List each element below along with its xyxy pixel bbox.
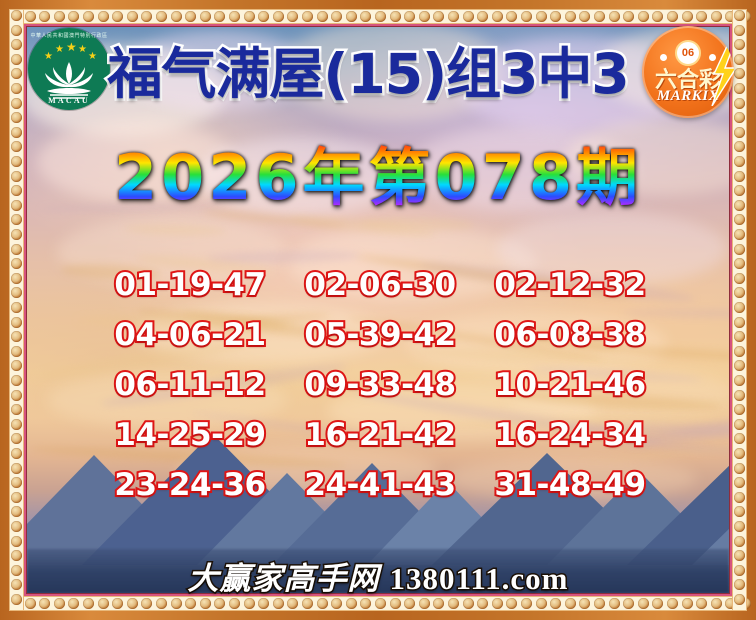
issue-number-text: 2026年第078期 — [114, 141, 642, 214]
frame-bead — [734, 10, 745, 21]
frame-bead — [127, 11, 138, 22]
footer: 大赢家高手网1380111.com — [0, 553, 756, 598]
frame-bead — [11, 287, 22, 298]
frame-bead — [419, 598, 430, 609]
frame-bead — [11, 448, 22, 459]
frame-bead — [734, 25, 745, 36]
frame-bead — [734, 244, 745, 255]
frame-bead — [404, 598, 415, 609]
frame-bead — [609, 11, 620, 22]
frame-bead — [734, 375, 745, 386]
frame-bead — [302, 598, 313, 609]
frame-bead — [375, 11, 386, 22]
frame-bead-band-top — [9, 9, 747, 24]
frame-bead — [536, 11, 547, 22]
frame-bead — [734, 390, 745, 401]
macau-emblem-chinese-text: 中華人民共和國澳門特別行政區 — [28, 32, 110, 39]
frame-bead — [734, 331, 745, 342]
frame-bead — [346, 11, 357, 22]
frame-bead — [11, 390, 22, 401]
frame-bead — [156, 11, 167, 22]
frame-bead — [667, 598, 678, 609]
frame-bead — [11, 273, 22, 284]
frame-bead — [734, 419, 745, 430]
frame-bead — [273, 598, 284, 609]
frame-bead — [11, 477, 22, 488]
frame-bead — [360, 598, 371, 609]
frame-bead — [734, 214, 745, 225]
frame-bead — [229, 598, 240, 609]
frame-bead — [579, 598, 590, 609]
number-triplet: 01-19-47 — [95, 262, 285, 308]
frame-bead — [682, 598, 693, 609]
frame-bead — [11, 302, 22, 313]
frame-bead — [244, 11, 255, 22]
frame-bead — [463, 598, 474, 609]
number-triplet: 06-08-38 — [475, 312, 665, 358]
frame-bead — [550, 598, 561, 609]
frame-bead — [185, 598, 196, 609]
golden-streak — [124, 223, 226, 236]
frame-bead — [54, 598, 65, 609]
frame-bead — [11, 214, 22, 225]
frame-bead — [609, 598, 620, 609]
frame-bead — [667, 11, 678, 22]
frame-bead — [734, 492, 745, 503]
frame-bead — [734, 287, 745, 298]
frame-bead — [11, 83, 22, 94]
frame-bead — [11, 521, 22, 532]
frame-bead — [419, 11, 430, 22]
frame-bead — [506, 598, 517, 609]
page-title: 福气满屋(15)组3中3 — [118, 30, 618, 108]
frame-bead — [200, 598, 211, 609]
frame-bead — [171, 598, 182, 609]
frame-bead — [734, 39, 745, 50]
frame-bead — [112, 11, 123, 22]
number-triplet: 24-41-43 — [285, 462, 475, 508]
frame-bead — [360, 11, 371, 22]
number-triplet: 04-06-21 — [95, 312, 285, 358]
number-triplet: 10-21-46 — [475, 362, 665, 408]
frame-bead — [734, 68, 745, 79]
frame-bead — [734, 302, 745, 313]
frame-bead — [11, 68, 22, 79]
frame-bead — [25, 598, 36, 609]
frame-bead — [711, 11, 722, 22]
frame-bead — [11, 375, 22, 386]
frame-bead — [11, 536, 22, 547]
frame-bead — [244, 598, 255, 609]
frame-bead — [390, 11, 401, 22]
frame-bead — [11, 404, 22, 415]
number-triplet: 02-06-30 — [285, 262, 475, 308]
number-grid: 01-19-4702-06-3002-12-3204-06-2105-39-42… — [95, 262, 665, 508]
frame-bead — [11, 54, 22, 65]
frame-bead — [156, 598, 167, 609]
frame-bead — [11, 127, 22, 138]
frame-bead — [11, 258, 22, 269]
frame-bead — [594, 598, 605, 609]
frame-bead — [317, 11, 328, 22]
frame-bead — [331, 598, 342, 609]
frame-bead — [696, 598, 707, 609]
frame-bead — [98, 598, 109, 609]
frame-bead — [623, 11, 634, 22]
frame-bead — [579, 11, 590, 22]
frame-bead — [734, 506, 745, 517]
frame-bead — [258, 11, 269, 22]
frame-bead — [25, 11, 36, 22]
macau-emblem: 中華人民共和國澳門特別行政區 ★ ★ ★ ★ ★ MACAU — [28, 28, 110, 110]
frame-bead — [638, 11, 649, 22]
frame-bead — [11, 25, 22, 36]
frame-bead — [273, 11, 284, 22]
frame-bead — [734, 521, 745, 532]
frame-bead — [550, 11, 561, 22]
frame-bead — [734, 229, 745, 240]
frame-bead — [83, 598, 94, 609]
badge-dot-left — [660, 54, 667, 61]
frame-bead — [317, 598, 328, 609]
frame-bead — [11, 10, 22, 21]
number-triplet: 23-24-36 — [95, 462, 285, 508]
frame-bead-band-right — [732, 9, 747, 611]
frame-bead — [477, 11, 488, 22]
frame-bead — [594, 11, 605, 22]
frame-bead — [565, 11, 576, 22]
frame-bead — [39, 598, 50, 609]
frame-bead — [638, 598, 649, 609]
frame-bead — [11, 331, 22, 342]
frame-bead — [734, 404, 745, 415]
frame-bead — [734, 112, 745, 123]
frame-bead — [127, 598, 138, 609]
frame-bead — [734, 433, 745, 444]
frame-bead — [734, 477, 745, 488]
frame-bead — [506, 11, 517, 22]
frame-bead — [214, 11, 225, 22]
frame-bead — [463, 11, 474, 22]
frame-bead — [302, 11, 313, 22]
frame-bead — [390, 598, 401, 609]
frame-bead — [54, 11, 65, 22]
number-triplet: 06-11-12 — [95, 362, 285, 408]
frame-bead — [521, 598, 532, 609]
frame-bead — [734, 258, 745, 269]
frame-bead-band-bottom — [9, 596, 747, 611]
frame-bead — [11, 360, 22, 371]
frame-bead — [112, 598, 123, 609]
frame-bead — [11, 463, 22, 474]
number-triplet: 02-12-32 — [475, 262, 665, 308]
frame-bead — [229, 11, 240, 22]
frame-bead — [734, 346, 745, 357]
markix-badge: 06 六合彩 MARKIX — [642, 26, 734, 118]
frame-bead — [200, 11, 211, 22]
frame-bead — [346, 598, 357, 609]
frame-bead — [258, 598, 269, 609]
frame-bead — [11, 346, 22, 357]
number-triplet: 16-21-42 — [285, 412, 475, 458]
frame-bead — [287, 11, 298, 22]
frame-bead — [652, 11, 663, 22]
frame-bead — [287, 598, 298, 609]
frame-bead — [68, 598, 79, 609]
frame-bead — [11, 112, 22, 123]
frame-bead — [711, 598, 722, 609]
frame-bead — [11, 39, 22, 50]
lightning-bolt-icon — [708, 44, 734, 106]
frame-bead — [734, 463, 745, 474]
number-triplet: 09-33-48 — [285, 362, 475, 408]
footer-url: 1380111.com — [390, 561, 569, 596]
frame-bead — [734, 127, 745, 138]
frame-bead — [11, 492, 22, 503]
footer-site-name: 大赢家高手网 — [188, 561, 380, 597]
lottery-poster: 中華人民共和國澳門特別行政區 ★ ★ ★ ★ ★ MACAU 福气满屋(15)组… — [0, 0, 756, 620]
frame-bead — [433, 11, 444, 22]
frame-bead — [521, 11, 532, 22]
number-triplet: 16-24-34 — [475, 412, 665, 458]
frame-bead — [404, 11, 415, 22]
frame-bead — [536, 598, 547, 609]
frame-bead — [185, 11, 196, 22]
frame-bead — [11, 506, 22, 517]
frame-bead — [565, 598, 576, 609]
macau-emblem-label: MACAU — [28, 96, 110, 105]
frame-bead — [652, 598, 663, 609]
frame-bead — [492, 598, 503, 609]
issue-number: 2026年第078期 2026年第078期 — [0, 147, 756, 209]
frame-bead — [141, 11, 152, 22]
frame-bead — [734, 54, 745, 65]
frame-bead — [171, 11, 182, 22]
frame-bead — [68, 11, 79, 22]
frame-bead — [11, 419, 22, 430]
frame-bead — [734, 536, 745, 547]
frame-bead — [448, 598, 459, 609]
frame-bead — [11, 244, 22, 255]
frame-bead — [39, 11, 50, 22]
lotus-icon — [41, 60, 97, 100]
frame-bead — [477, 598, 488, 609]
frame-bead — [83, 11, 94, 22]
frame-bead — [98, 11, 109, 22]
frame-bead — [331, 11, 342, 22]
frame-bead — [433, 598, 444, 609]
frame-bead — [492, 11, 503, 22]
number-triplet: 31-48-49 — [475, 462, 665, 508]
frame-bead — [375, 598, 386, 609]
frame-bead — [734, 98, 745, 109]
frame-bead — [734, 448, 745, 459]
frame-bead — [214, 598, 225, 609]
frame-bead — [696, 11, 707, 22]
number-triplet: 05-39-42 — [285, 312, 475, 358]
frame-bead — [682, 11, 693, 22]
frame-bead — [734, 83, 745, 94]
frame-bead — [448, 11, 459, 22]
frame-bead — [734, 273, 745, 284]
number-triplet: 14-25-29 — [95, 412, 285, 458]
frame-bead — [11, 229, 22, 240]
frame-bead — [734, 360, 745, 371]
frame-bead — [623, 598, 634, 609]
frame-bead-band-left — [9, 9, 24, 611]
frame-bead — [11, 98, 22, 109]
frame-bead — [11, 317, 22, 328]
frame-bead — [734, 317, 745, 328]
frame-bead — [11, 433, 22, 444]
frame-bead — [141, 598, 152, 609]
